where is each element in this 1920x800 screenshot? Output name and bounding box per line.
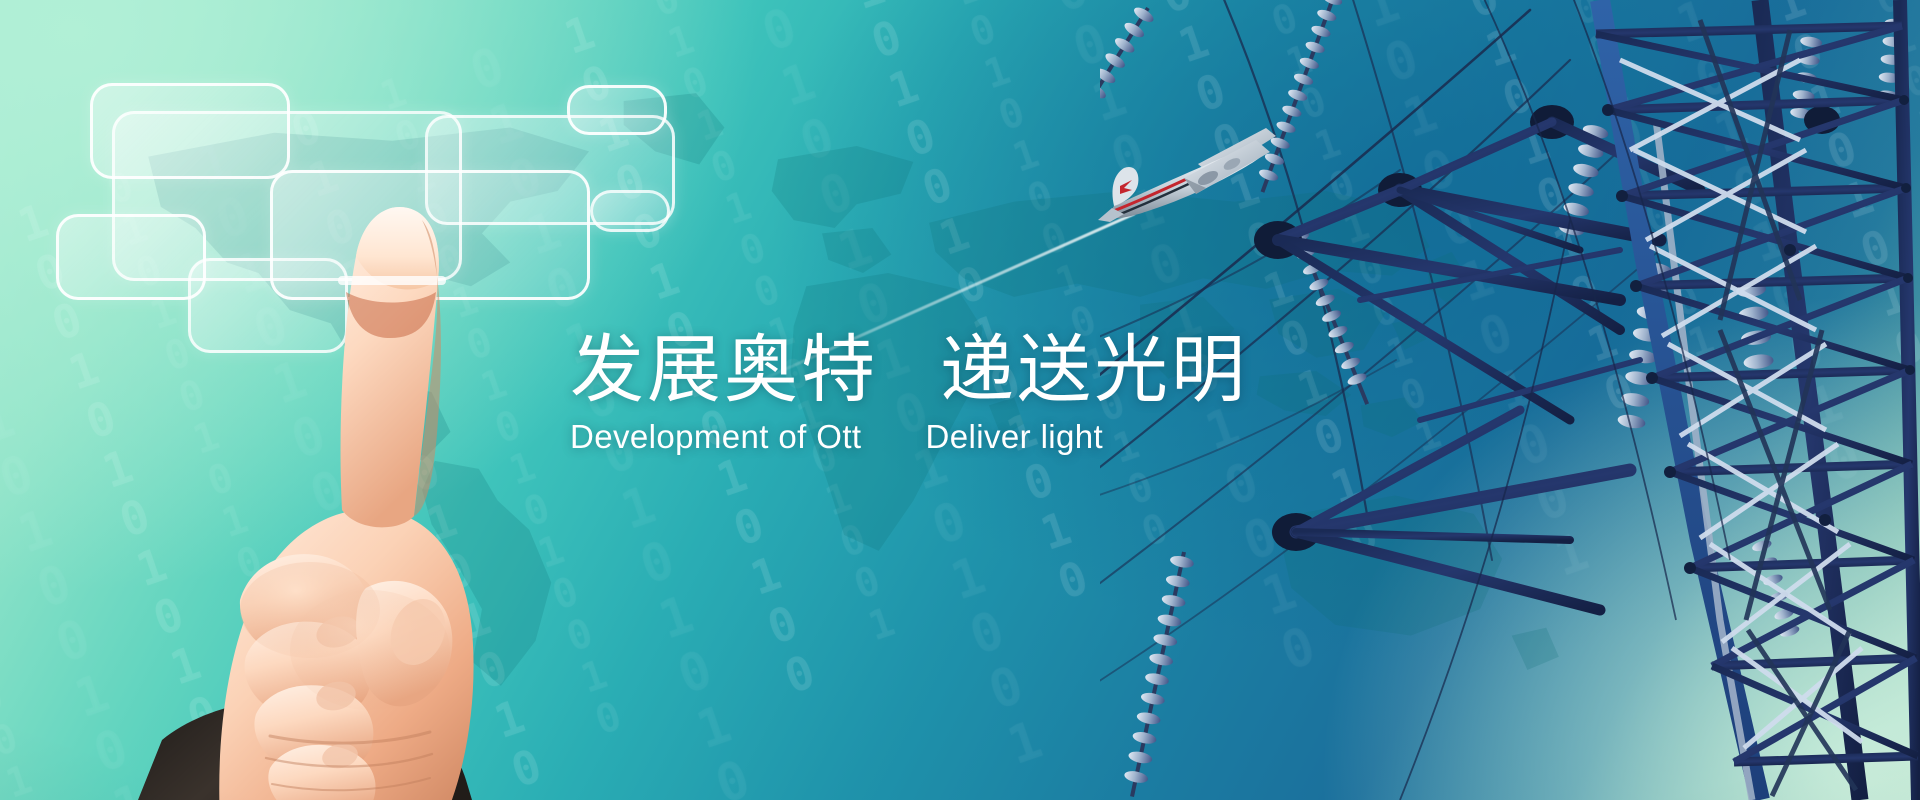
glass-panel-2 (112, 111, 462, 281)
glass-panel-3 (56, 214, 206, 300)
headline-chinese: 发展奥特 递送光明 (570, 330, 1330, 410)
binary-column: 1010101001010101 (1462, 0, 1820, 641)
headline-en-left: Development of Ott (570, 418, 862, 456)
binary-column: 0101001010101010 (96, 161, 454, 800)
pointing-hand (70, 180, 630, 800)
binary-column: 0101010010101001 (0, 222, 276, 800)
binary-column: 0101010010101001 (1735, 0, 1920, 547)
hero-banner: 0101010010101011010010101001010101010010… (0, 0, 1920, 800)
airliner (1080, 120, 1280, 230)
binary-column: 101001010101010 (1644, 0, 1920, 578)
headline-block: 发展奥特 递送光明 Development of Ott Deliver lig… (570, 330, 1330, 456)
glass-panel-8 (590, 190, 670, 232)
binary-column: 10101001010100 (1821, 0, 1920, 517)
glass-panel-4 (188, 258, 348, 353)
binary-column: 10010101010010 (4, 191, 367, 800)
glass-panel-5 (270, 170, 590, 300)
binary-column: 101001010100101 (0, 255, 180, 800)
binary-column: 01010010101010 (1370, 0, 1733, 672)
glass-panel-1 (90, 83, 290, 179)
headline-cn-left: 发展奥特 (570, 330, 878, 410)
headline-en-right: Deliver light (920, 418, 1104, 456)
binary-column: 010100101010010 (1547, 0, 1915, 611)
glass-panel-7 (567, 85, 667, 135)
binary-column: 101010010101001 (181, 128, 549, 800)
binary-column: 010101001010101 (0, 285, 94, 800)
headline-english: Development of Ott Deliver light (570, 418, 1330, 456)
headline-cn-right: 递送光明 (940, 330, 1248, 410)
glass-panel-6 (425, 115, 675, 225)
